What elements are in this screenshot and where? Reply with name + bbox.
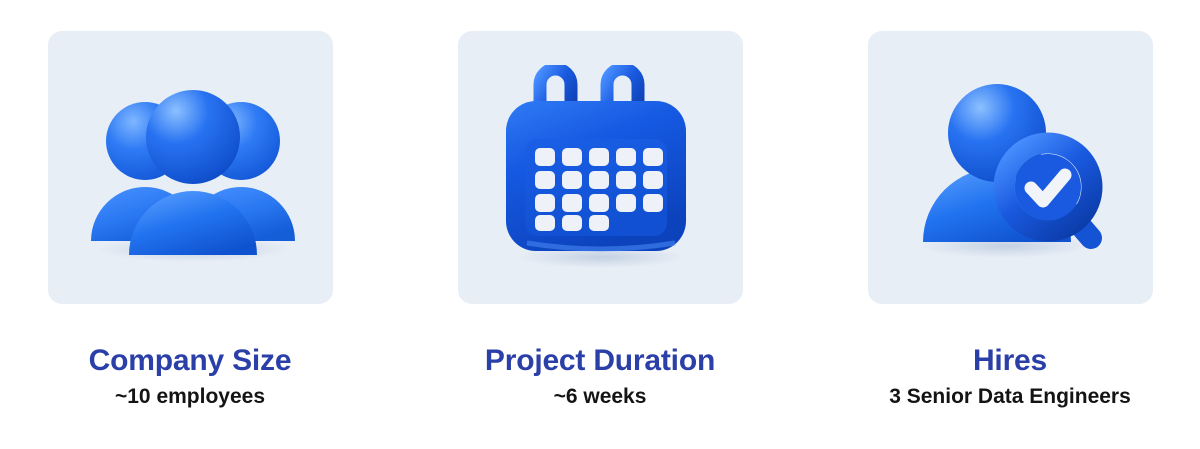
stat-card-company-size: Company Size ~10 employees: [0, 31, 380, 449]
stat-title: Project Duration: [485, 345, 715, 377]
icon-tile-company-size: [48, 31, 333, 304]
stat-title: Hires: [973, 345, 1047, 377]
stat-value: 3 Senior Data Engineers: [889, 386, 1131, 408]
icon-tile-project-duration: [458, 31, 743, 304]
stats-row: Company Size ~10 employees: [0, 0, 1200, 449]
stat-card-hires: Hires 3 Senior Data Engineers: [820, 31, 1200, 449]
calendar-icon: [493, 65, 708, 270]
people-group-icon: [75, 73, 305, 263]
magnifier: [1004, 143, 1092, 238]
stat-card-project-duration: Project Duration ~6 weeks: [410, 31, 790, 449]
stat-value: ~10 employees: [115, 386, 265, 408]
stat-title: Company Size: [89, 345, 292, 377]
person-search-check-icon: [905, 70, 1115, 265]
icon-tile-hires: [868, 31, 1153, 304]
stat-value: ~6 weeks: [554, 386, 647, 408]
